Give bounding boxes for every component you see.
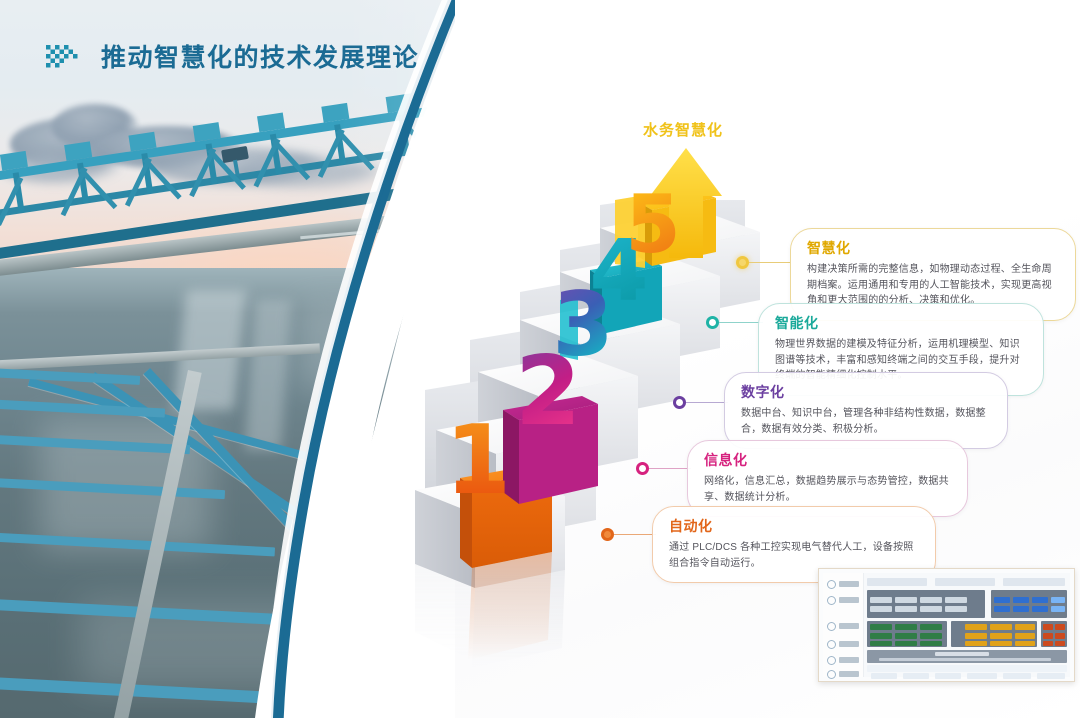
dashboard-layer-labels bbox=[823, 573, 864, 677]
dashboard-cell-red bbox=[1043, 624, 1053, 630]
dashboard-cell-red bbox=[1043, 641, 1053, 646]
dashboard-cell bbox=[870, 597, 892, 603]
layer-text bbox=[839, 597, 859, 603]
dashboard-chip bbox=[871, 673, 897, 679]
layer-icon bbox=[827, 656, 836, 665]
dashboard-cell-green bbox=[895, 624, 917, 630]
callout-dot-digital[interactable] bbox=[673, 396, 686, 409]
layer-text bbox=[839, 657, 859, 663]
callout-body: 数据中台、知识中台，管理各种非结构性数据，数据整合，数据有效分类、积极分析。 bbox=[741, 406, 991, 437]
dashboard-top-band bbox=[1003, 578, 1065, 586]
dashboard-cell-amber bbox=[990, 624, 1012, 630]
callout-body: 通过 PLC/DCS 各种工控实现电气替代人工，设备按照组合指令自动运行。 bbox=[669, 540, 919, 571]
layer-icon bbox=[827, 596, 836, 605]
dashboard-cell-green bbox=[870, 641, 892, 646]
step-number-1: 1 bbox=[445, 406, 511, 516]
arrow-label: 水务智慧化 bbox=[643, 119, 723, 140]
slide-root: 推动智慧化的技术发展理论 bbox=[0, 0, 1080, 718]
platform-architecture-thumbnail[interactable] bbox=[818, 568, 1075, 682]
dashboard-cell-green bbox=[870, 633, 892, 639]
dashboard-cell-green bbox=[870, 624, 892, 630]
callout-dot-wisdom[interactable] bbox=[736, 256, 749, 269]
dashboard-cell-blue bbox=[994, 597, 1010, 603]
dashboard-cell-green bbox=[920, 624, 942, 630]
dashboard-panel-blue bbox=[991, 590, 1067, 618]
layer-text bbox=[839, 641, 859, 647]
svg-text:5: 5 bbox=[625, 178, 681, 271]
staircase-graphic: 1 2 3 4 5 bbox=[0, 0, 625, 718]
callout-body: 网络化，信息汇总，数据趋势展示与态势管控，数据共享、数据统计分析。 bbox=[704, 474, 951, 505]
dashboard-cell-blue bbox=[1051, 597, 1065, 603]
dashboard-cell-green bbox=[920, 633, 942, 639]
dashboard-cell-blue bbox=[1013, 597, 1029, 603]
dashboard-cell-amber bbox=[965, 624, 987, 630]
dashboard-cell bbox=[920, 597, 942, 603]
dashboard-panel-left bbox=[867, 590, 985, 618]
layer-text bbox=[839, 623, 859, 629]
dashboard-cell-amber bbox=[1015, 641, 1035, 646]
callout-lead-intelligent bbox=[719, 322, 763, 323]
dashboard-cell-blue bbox=[1032, 597, 1048, 603]
callout-title: 信息化 bbox=[704, 450, 951, 470]
dashboard-cell-green bbox=[895, 641, 917, 646]
layer-text bbox=[839, 671, 859, 677]
svg-text:1: 1 bbox=[445, 406, 511, 516]
layer-label-row bbox=[827, 579, 861, 590]
dashboard-cell-amber bbox=[1015, 633, 1035, 639]
callout-lead-digital bbox=[686, 402, 728, 403]
dashboard-cell-green bbox=[920, 641, 942, 646]
layer-icon bbox=[827, 580, 836, 589]
callout-title: 数字化 bbox=[741, 382, 991, 402]
dashboard-cell-red bbox=[1055, 633, 1065, 639]
dashboard-cell bbox=[945, 606, 967, 612]
layer-icon bbox=[827, 622, 836, 631]
dashboard-cell-amber bbox=[965, 641, 987, 646]
callout-title: 智慧化 bbox=[807, 238, 1059, 258]
layer-label-row bbox=[827, 595, 861, 606]
dashboard-cell bbox=[920, 606, 942, 612]
dashboard-cell-red bbox=[1055, 624, 1065, 630]
dashboard-cell bbox=[895, 606, 917, 612]
callout-title: 智能化 bbox=[775, 313, 1027, 333]
layer-icon bbox=[827, 670, 836, 679]
layer-icon bbox=[827, 640, 836, 649]
dashboard-cell-amber bbox=[990, 633, 1012, 639]
dashboard-cell-amber bbox=[965, 633, 987, 639]
dashboard-chip bbox=[1003, 673, 1031, 679]
dashboard-cell-red bbox=[1055, 641, 1065, 646]
dashboard-chip bbox=[967, 673, 997, 679]
dashboard-top-band bbox=[867, 578, 927, 586]
dashboard-cell bbox=[945, 597, 967, 603]
dashboard-cell bbox=[895, 597, 917, 603]
callout-digital[interactable]: 数字化 数据中台、知识中台，管理各种非结构性数据，数据整合，数据有效分类、积极分… bbox=[724, 372, 1008, 449]
dashboard-chip bbox=[903, 673, 929, 679]
dashboard-cell-blue bbox=[1032, 606, 1048, 612]
dashboard-cell-green bbox=[895, 633, 917, 639]
callout-dot-automation[interactable] bbox=[601, 528, 614, 541]
callout-lead-informatization bbox=[649, 468, 691, 469]
dashboard-cell bbox=[870, 606, 892, 612]
dashboard-band-label bbox=[879, 658, 1051, 661]
dashboard-bottom-row bbox=[867, 665, 1067, 672]
callout-body: 构建决策所需的完整信息，如物理动态过程、全生命周期档案。运用通用和专用的人工智能… bbox=[807, 262, 1059, 309]
dashboard-chip bbox=[1037, 673, 1065, 679]
dashboard-cell-red bbox=[1043, 633, 1053, 639]
dashboard-cell-blue bbox=[1051, 606, 1065, 612]
callout-title: 自动化 bbox=[669, 516, 919, 536]
callout-lead-wisdom bbox=[749, 262, 791, 263]
layer-label-row bbox=[827, 639, 861, 650]
callout-lead-automation bbox=[614, 534, 656, 535]
dashboard-chip bbox=[935, 673, 961, 679]
step-number-5: 5 bbox=[625, 178, 681, 271]
callout-dot-intelligent[interactable] bbox=[706, 316, 719, 329]
dashboard-cell-blue bbox=[994, 606, 1010, 612]
callout-dot-informatization[interactable] bbox=[636, 462, 649, 475]
layer-label-row bbox=[827, 669, 861, 680]
dashboard-cell-amber bbox=[1015, 624, 1035, 630]
dashboard-cell-amber bbox=[990, 641, 1012, 646]
dashboard-cell-blue bbox=[1013, 606, 1029, 612]
layer-text bbox=[839, 581, 859, 587]
dashboard-top-band bbox=[935, 578, 995, 586]
dashboard-band-label bbox=[935, 652, 989, 656]
layer-label-row bbox=[827, 621, 861, 632]
layer-label-row bbox=[827, 655, 861, 666]
dashboard-canvas bbox=[823, 573, 1070, 677]
